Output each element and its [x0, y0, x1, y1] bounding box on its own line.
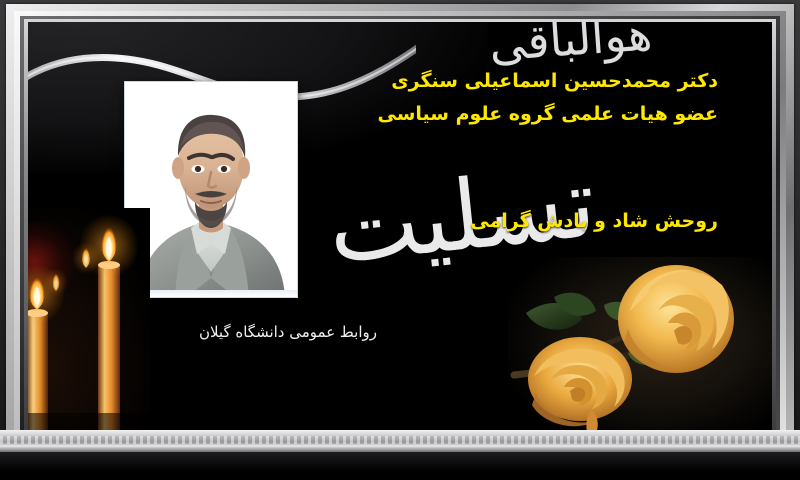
photo-bottom-edge	[125, 290, 297, 297]
calligraphy-hoval-baqi: هوالباقی	[487, 22, 653, 72]
public-relations-credit: روابط عمومی دانشگاه گیلان	[199, 323, 377, 341]
frame-bottom-rail	[0, 430, 800, 452]
memorial-poster: هوالباقی تسلیت	[0, 0, 800, 480]
poster-canvas: هوالباقی تسلیت	[28, 22, 772, 432]
deceased-photo-frame	[125, 82, 297, 297]
frame-bottom-base	[0, 452, 800, 480]
deceased-name: دکتر محمدحسین اسماعیلی سنگری	[391, 70, 718, 92]
deceased-title: عضو هیات علمی گروه علوم سیاسی	[378, 103, 719, 125]
deceased-photo	[125, 82, 297, 297]
tribute-line: روحش شاد و یادش گرامی	[470, 210, 718, 232]
yellow-roses-decoration	[508, 257, 772, 432]
candles-decoration	[28, 208, 150, 432]
